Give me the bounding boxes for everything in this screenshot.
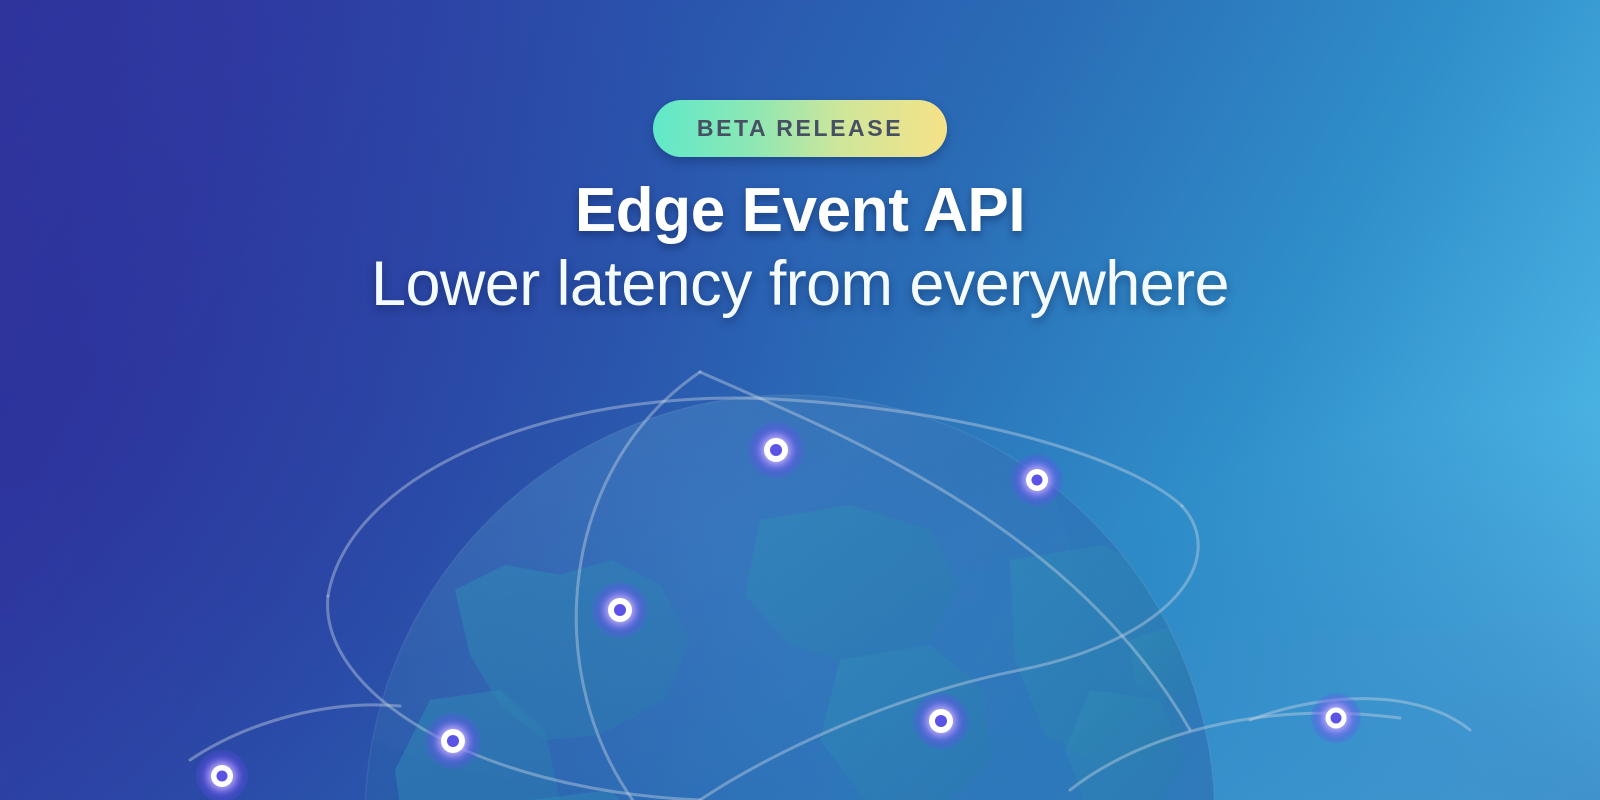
orbit-arcs	[190, 372, 1470, 800]
node-core	[770, 444, 782, 456]
node-north-central	[748, 422, 804, 478]
node-south-central	[913, 693, 969, 749]
node-core	[1331, 713, 1342, 724]
node-south-west	[425, 713, 481, 769]
node-core	[447, 735, 459, 747]
node-mid-west	[592, 582, 648, 638]
beta-release-badge: BETA RELEASE	[653, 100, 947, 157]
hero-content: BETA RELEASE Edge Event API Lower latenc…	[0, 0, 1600, 320]
page-title: Edge Event API	[0, 178, 1600, 243]
page-subtitle: Lower latency from everywhere	[0, 249, 1600, 320]
node-far-east	[1311, 693, 1361, 743]
node-core	[1032, 475, 1043, 486]
node-corner-west	[196, 750, 248, 800]
globe-sphere	[210, 330, 1215, 800]
node-core	[935, 715, 947, 727]
node-core	[614, 604, 626, 616]
node-core	[217, 771, 228, 782]
globe-landmasses	[395, 505, 1205, 800]
node-north-east	[1011, 454, 1063, 506]
hero-banner: BETA RELEASE Edge Event API Lower latenc…	[0, 0, 1600, 800]
